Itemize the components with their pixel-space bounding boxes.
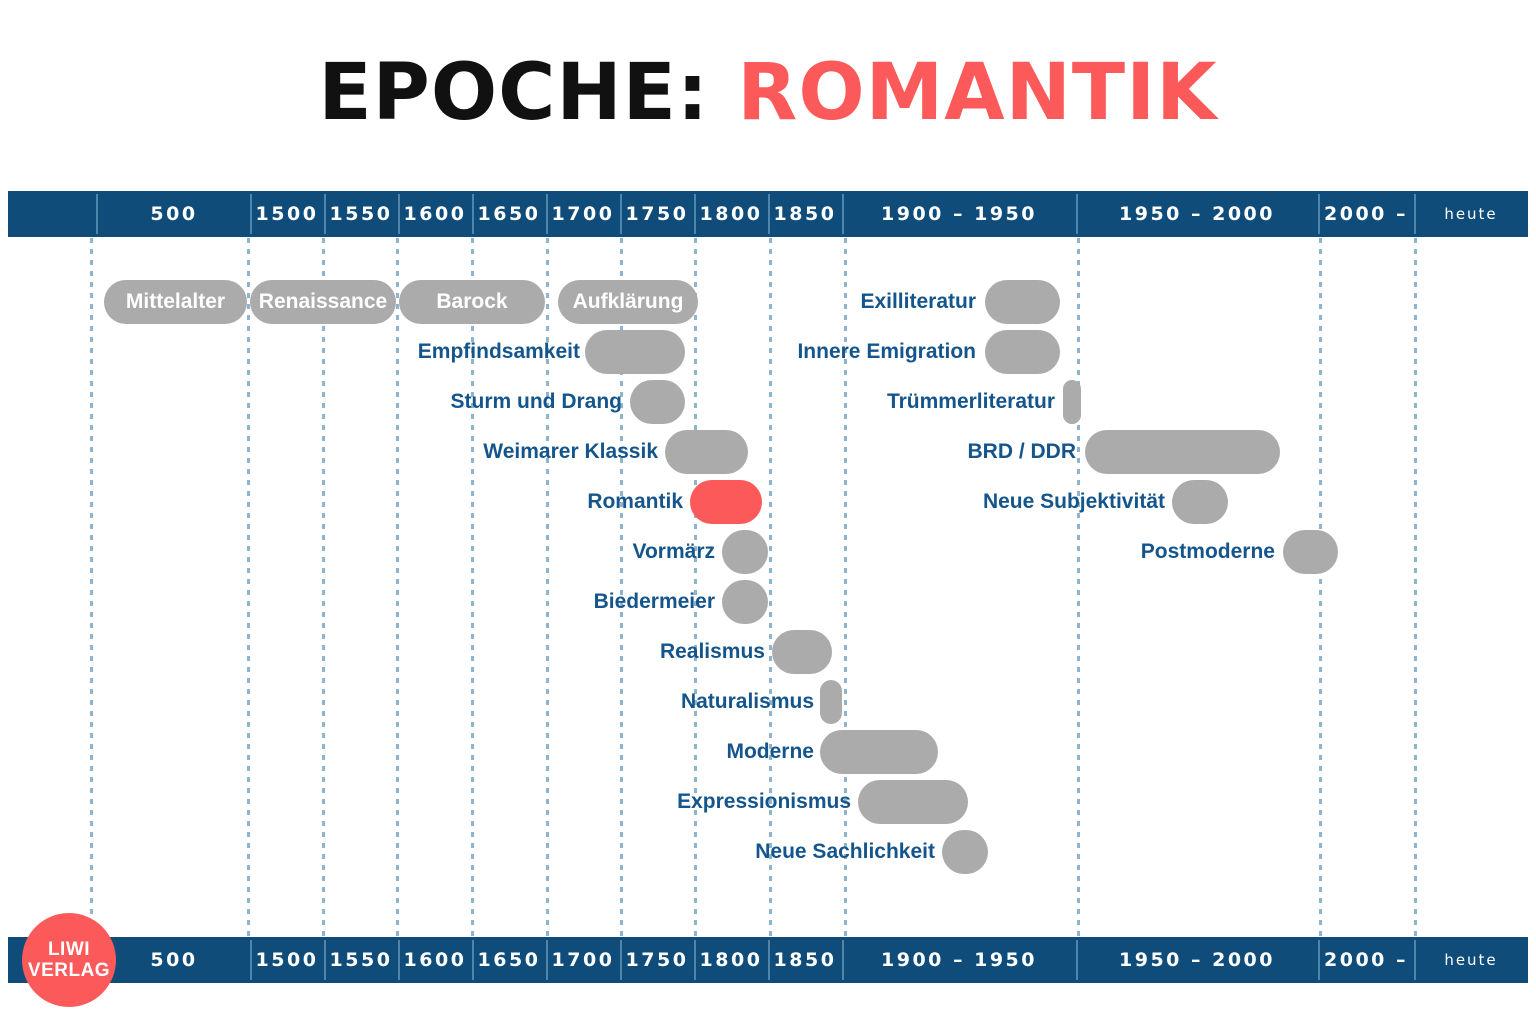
epoch-label-barock: Barock	[399, 280, 545, 324]
axis-tick-bottom-6: 1750	[620, 937, 694, 983]
epoch-label-empfindsamkeit: Empfindsamkeit	[350, 330, 580, 374]
axis-tick-top-6: 1750	[620, 191, 694, 237]
axis-tick-top-4: 1650	[472, 191, 546, 237]
epoch-label-expressionismus: Expressionismus	[606, 780, 851, 824]
axis-tick-top-8: 1850	[768, 191, 842, 237]
epoch-bar-mittelalter[interactable]: Mittelalter	[104, 280, 247, 324]
page-title-main: EPOCHE:	[318, 48, 737, 138]
epoch-label-neue-subjektivit-t: Neue Subjektivität	[920, 480, 1165, 524]
timeline-row: EmpfindsamkeitInnere Emigration	[0, 330, 1536, 380]
axis-tick-top-5: 1700	[546, 191, 620, 237]
epoch-label-renaissance: Renaissance	[250, 280, 396, 324]
epoch-bar-neue-subjektivit-t[interactable]	[1172, 480, 1228, 524]
epoch-bar-realismus[interactable]	[772, 630, 832, 674]
epoch-label-weimarer-klassik: Weimarer Klassik	[415, 430, 658, 474]
epoch-bar-vorm-rz[interactable]	[722, 530, 768, 574]
axis-tick-top-3: 1600	[398, 191, 472, 237]
epoch-label-biedermeier: Biedermeier	[470, 580, 715, 624]
epoch-label-postmoderne: Postmoderne	[1030, 530, 1275, 574]
timeline-row: Naturalismus	[0, 680, 1536, 730]
epoch-label-sturm-und-drang: Sturm und Drang	[380, 380, 622, 424]
epoch-bar-expressionismus[interactable]	[858, 780, 968, 824]
axis-tick-bottom-0: 500	[98, 937, 250, 983]
epoch-bar-neue-sachlichkeit[interactable]	[942, 830, 988, 874]
epoch-bar-biedermeier[interactable]	[722, 580, 768, 624]
axis-tick-bottom-1: 1500	[250, 937, 324, 983]
timeline-row: RomantikNeue Subjektivität	[0, 480, 1536, 530]
timeline-row: Moderne	[0, 730, 1536, 780]
timeline-row: MittelalterRenaissanceBarockAufklärungEx…	[0, 280, 1536, 330]
page-title-accent: ROMANTIK	[737, 48, 1217, 138]
axis-tick-bottom-7: 1800	[694, 937, 768, 983]
axis-tick-top-11: 2000 –	[1318, 191, 1414, 237]
axis-tick-bottom-5: 1700	[546, 937, 620, 983]
epoch-label-innere-emigration: Innere Emigration	[740, 330, 976, 374]
epoch-label-exilliteratur: Exilliteratur	[790, 280, 976, 324]
epoch-bar-innere-emigration[interactable]	[985, 330, 1060, 374]
epoch-label-tr-mmerliteratur: Trümmerliteratur	[815, 380, 1055, 424]
epoch-bar-sturm-und-drang[interactable]	[630, 380, 685, 424]
epoch-bar-romantik[interactable]	[690, 480, 762, 524]
axis-tick-bottom-11: 2000 –	[1318, 937, 1414, 983]
timeline-row: Sturm und DrangTrümmerliteratur	[0, 380, 1536, 430]
epoch-bar-aufkl-rung[interactable]: Aufklärung	[558, 280, 698, 324]
axis-tick-top-7: 1800	[694, 191, 768, 237]
timeline-row: Expressionismus	[0, 780, 1536, 830]
timeline-infographic: EPOCHE: ROMANTIK 50015001550160016501700…	[0, 0, 1536, 1024]
timeline-row: Biedermeier	[0, 580, 1536, 630]
axis-tick-top-0: 500	[98, 191, 250, 237]
epoch-bar-brd-ddr[interactable]	[1085, 430, 1280, 474]
axis-tick-bottom-12: heute	[1414, 937, 1528, 983]
axis-tick-bottom-10: 1950 – 2000	[1076, 937, 1318, 983]
epoch-bar-exilliteratur[interactable]	[985, 280, 1060, 324]
epoch-bar-postmoderne[interactable]	[1283, 530, 1338, 574]
epoch-label-realismus: Realismus	[520, 630, 765, 674]
epoch-bar-tr-mmerliteratur[interactable]	[1063, 380, 1081, 424]
liwi-verlag-logo: LIWI VERLAG	[22, 913, 116, 1007]
timeline-row: Neue Sachlichkeit	[0, 830, 1536, 880]
epoch-bar-empfindsamkeit[interactable]	[585, 330, 685, 374]
epoch-label-neue-sachlichkeit: Neue Sachlichkeit	[690, 830, 935, 874]
axis-tick-bottom-8: 1850	[768, 937, 842, 983]
timeline-axis-top: 500150015501600165017001750180018501900 …	[8, 191, 1528, 237]
epoch-label-brd-ddr: BRD / DDR	[830, 430, 1076, 474]
axis-tick-top-2: 1550	[324, 191, 398, 237]
timeline-row: Realismus	[0, 630, 1536, 680]
axis-tick-top-9: 1900 – 1950	[842, 191, 1076, 237]
axis-tick-bottom-3: 1600	[398, 937, 472, 983]
epoch-label-naturalismus: Naturalismus	[570, 680, 814, 724]
timeline-plot-area: MittelalterRenaissanceBarockAufklärungEx…	[0, 238, 1536, 936]
axis-tick-bottom-4: 1650	[472, 937, 546, 983]
axis-tick-top-12: heute	[1414, 191, 1528, 237]
axis-tick-bottom-9: 1900 – 1950	[842, 937, 1076, 983]
axis-tick-top-10: 1950 – 2000	[1076, 191, 1318, 237]
timeline-row: Weimarer KlassikBRD / DDR	[0, 430, 1536, 480]
page-title: EPOCHE: ROMANTIK	[0, 54, 1536, 132]
epoch-bar-naturalismus[interactable]	[820, 680, 842, 724]
epoch-bar-barock[interactable]: Barock	[399, 280, 545, 324]
epoch-label-vorm-rz: Vormärz	[470, 530, 715, 574]
axis-tick-bottom-2: 1550	[324, 937, 398, 983]
timeline-axis-bottom: 500150015501600165017001750180018501900 …	[8, 937, 1528, 983]
epoch-label-romantik: Romantik	[440, 480, 683, 524]
epoch-bar-weimarer-klassik[interactable]	[665, 430, 748, 474]
axis-tick-top-1: 1500	[250, 191, 324, 237]
epoch-bar-moderne[interactable]	[820, 730, 938, 774]
epoch-label-moderne: Moderne	[570, 730, 814, 774]
epoch-bar-renaissance[interactable]: Renaissance	[250, 280, 396, 324]
timeline-row: VormärzPostmoderne	[0, 530, 1536, 580]
logo-line-2: VERLAG	[28, 960, 110, 981]
epoch-label-aufkl-rung: Aufklärung	[558, 280, 698, 324]
logo-line-1: LIWI	[48, 939, 90, 960]
epoch-label-mittelalter: Mittelalter	[104, 280, 247, 324]
